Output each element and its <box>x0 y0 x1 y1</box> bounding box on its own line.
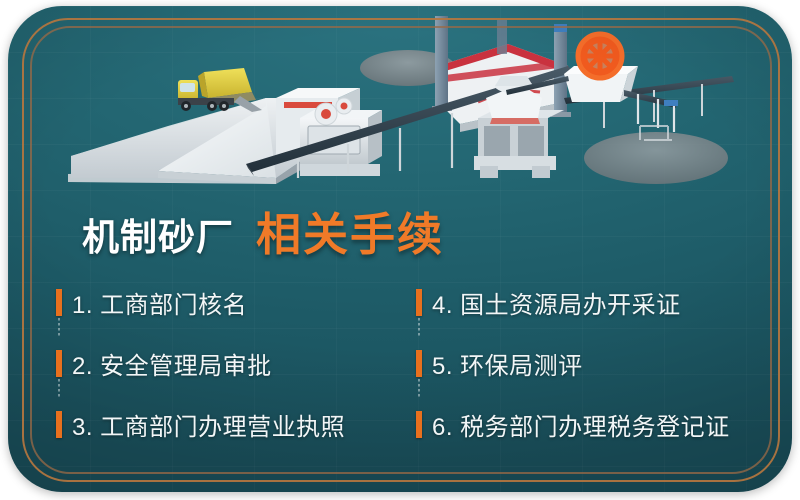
list-item-label: 5. 环保局测评 <box>432 346 583 381</box>
list-item[interactable]: 4. 国土资源局办开采证 <box>416 272 756 333</box>
list-item-label: 4. 国土资源局办开采证 <box>432 285 681 320</box>
list-item[interactable]: 2. 安全管理局审批 <box>56 333 416 394</box>
title-primary: 机制砂厂 <box>82 207 234 261</box>
marker-bar-icon <box>56 350 62 377</box>
list-item-label: 2. 安全管理局审批 <box>72 346 272 381</box>
page-title: 机制砂厂 相关手续 <box>82 198 444 263</box>
marker-bar-icon <box>416 350 422 377</box>
poster-root: 机制砂厂 相关手续 1. 工商部门核名 4. 国土资源局办开采证 2. 安全管理… <box>0 0 800 500</box>
list-item-label: 6. 税务部门办理税务登记证 <box>432 407 730 442</box>
title-highlight: 相关手续 <box>256 198 444 263</box>
list-item[interactable]: 1. 工商部门核名 <box>56 272 416 333</box>
list-item[interactable]: 6. 税务部门办理税务登记证 <box>416 394 756 455</box>
list-item-label: 1. 工商部门核名 <box>72 285 247 320</box>
marker-bar-icon <box>416 411 422 438</box>
marker-bar-icon <box>56 411 62 438</box>
marker-bar-icon <box>416 289 422 316</box>
list-item[interactable]: 5. 环保局测评 <box>416 333 756 394</box>
procedure-list: 1. 工商部门核名 4. 国土资源局办开采证 2. 安全管理局审批 5. 环保局… <box>56 272 746 454</box>
list-item-label: 3. 工商部门办理营业执照 <box>72 407 345 442</box>
production-line-illustration <box>8 6 792 206</box>
list-item[interactable]: 3. 工商部门办理营业执照 <box>56 394 416 455</box>
marker-bar-icon <box>56 289 62 316</box>
